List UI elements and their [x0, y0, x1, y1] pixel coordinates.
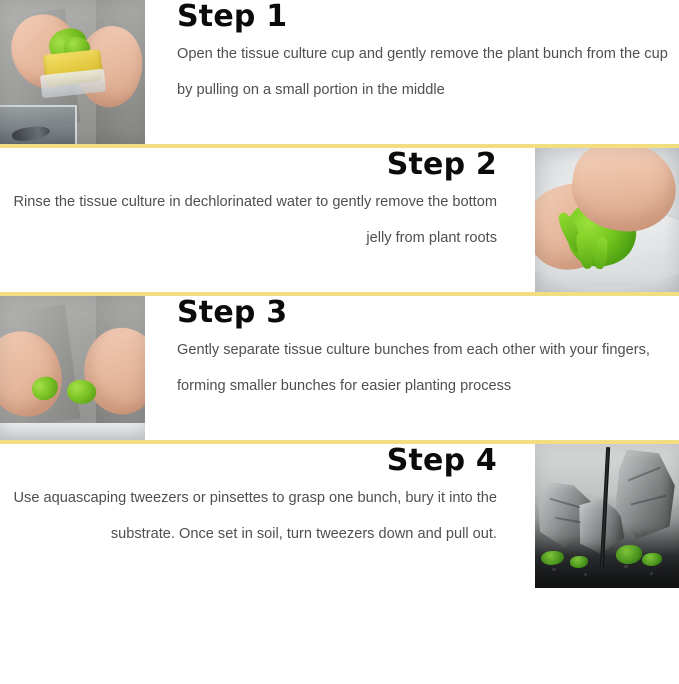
step-4-title: Step 4 [8, 444, 497, 480]
step-1-body: Open the tissue culture cup and gently r… [177, 36, 671, 108]
step-card-4: Step 4 Use aquascaping tweezers or pinse… [0, 444, 679, 588]
step-2-body: Rinse the tissue culture in dechlorinate… [8, 184, 497, 256]
step-card-2: Step 2 Rinse the tissue culture in dechl… [0, 148, 679, 292]
step-3-title: Step 3 [177, 296, 671, 332]
step-3-photo [0, 296, 145, 440]
step-card-1: Step 1 Open the tissue culture cup and g… [0, 0, 679, 144]
step-2-title: Step 2 [8, 148, 497, 184]
step-card-3: Step 3 Gently separate tissue culture bu… [0, 296, 679, 440]
step-1-title: Step 1 [177, 0, 671, 36]
step-4-photo [535, 444, 679, 588]
step-3-body: Gently separate tissue culture bunches f… [177, 332, 671, 404]
step-2-photo [535, 148, 679, 292]
step-1-photo [0, 0, 145, 144]
step-4-body: Use aquascaping tweezers or pinsettes to… [8, 480, 497, 552]
steps-infographic: Step 1 Open the tissue culture cup and g… [0, 0, 679, 684]
